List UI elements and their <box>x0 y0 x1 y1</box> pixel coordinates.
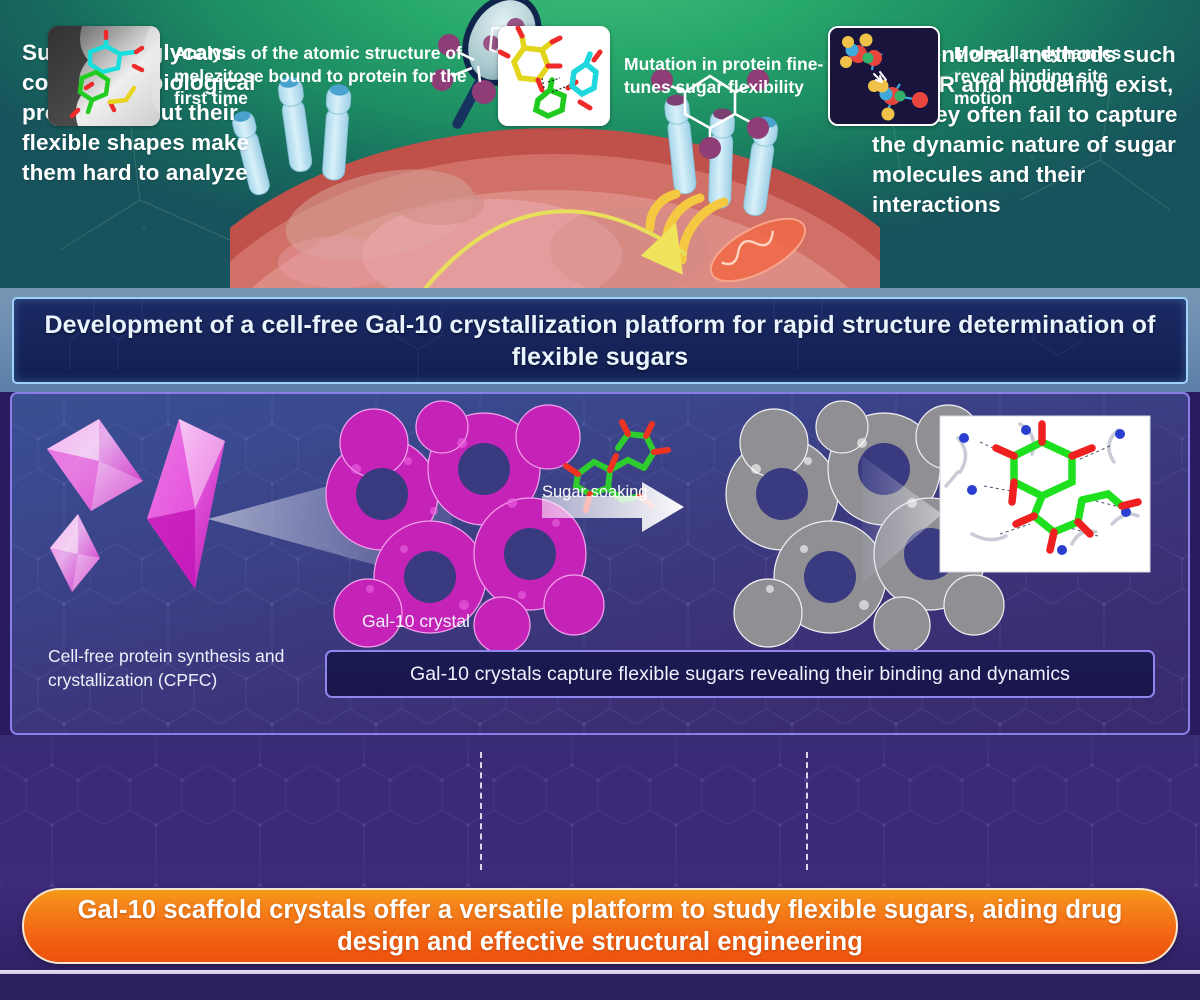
hexagon-pattern <box>0 735 1200 887</box>
finding-1-text: Analysis of the atomic structure of mele… <box>174 42 468 110</box>
separator-1 <box>480 752 482 870</box>
sugar-stick-model-thumbnail <box>498 26 610 126</box>
bottom-fill <box>0 974 1200 1000</box>
finding-3-text: Molecular dynamics reveal binding site m… <box>954 42 1168 110</box>
finding-2: Mutation in protein fine-tunes sugar fle… <box>498 20 828 132</box>
finding-1: Analysis of the atomic structure of mele… <box>48 20 468 132</box>
key-findings-row <box>0 735 1200 887</box>
main-title-banner: Development of a cell-free Gal-10 crysta… <box>12 297 1188 384</box>
label-gal10-crystal: Gal-10 crystal <box>362 611 470 632</box>
finding-2-text: Mutation in protein fine-tunes sugar fle… <box>624 53 828 99</box>
findings-callout-text: Gal-10 crystals capture flexible sugars … <box>410 663 1070 686</box>
separator-2 <box>806 752 808 870</box>
findings-callout: Gal-10 crystals capture flexible sugars … <box>325 650 1155 698</box>
main-title-text: Development of a cell-free Gal-10 crysta… <box>14 309 1186 373</box>
finding-3: Molecular dynamics reveal binding site m… <box>828 20 1168 132</box>
label-sugar-soaking: Sugar soaking <box>542 483 648 502</box>
label-cpfc: Cell-free protein synthesis and crystall… <box>48 645 318 692</box>
conclusion-banner: Gal-10 scaffold crystals offer a versati… <box>22 888 1178 964</box>
graphical-abstract: Sugars like glycans control key biologic… <box>0 0 1200 1000</box>
molecular-dynamics-thumbnail <box>828 26 940 126</box>
conclusion-text: Gal-10 scaffold crystals offer a versati… <box>24 894 1176 959</box>
melezitose-bound-protein-surface-thumbnail <box>48 26 160 126</box>
